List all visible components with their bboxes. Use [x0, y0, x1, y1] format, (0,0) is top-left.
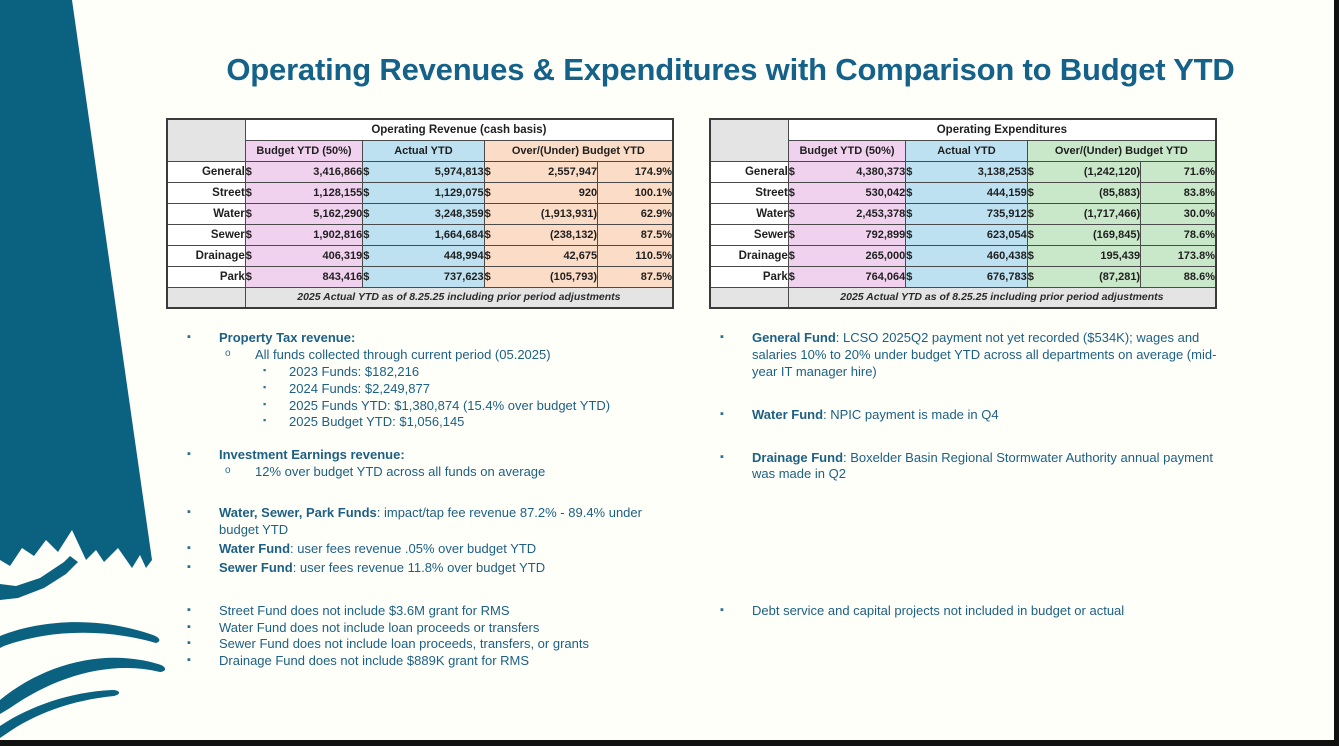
list-item-label: 2025 Funds YTD: $1,380,874 (15.4% over b…	[289, 398, 680, 415]
currency-symbol: $	[484, 245, 501, 266]
table-row: Drainage $ 265,000 $ 460,438 $ 195,439 1…	[710, 245, 1216, 266]
list-item-label: Water Fund: NPIC payment is made in Q4	[752, 407, 1218, 424]
currency-symbol: $	[1027, 203, 1044, 224]
column-header-budget-ytd: Budget YTD (50%)	[788, 140, 905, 161]
list-item-label: 12% over budget YTD across all funds on …	[255, 464, 680, 481]
currency-symbol: $	[484, 182, 501, 203]
operating-expenditures-table: Operating Expenditures Budget YTD (50%) …	[709, 118, 1217, 309]
table-row: Drainage $ 406,319 $ 448,994 $ 42,675 11…	[167, 245, 673, 266]
corner-cell	[167, 119, 245, 161]
bullet-square-icon: ▪	[720, 603, 724, 618]
currency-symbol: $	[906, 224, 923, 245]
row-label: Drainage	[167, 245, 245, 266]
group-title: Operating Expenditures	[788, 119, 1216, 140]
cell-over-under: (169,845)	[1044, 224, 1140, 245]
row-label: Street	[167, 182, 245, 203]
bullet-square-icon: ▪	[263, 398, 266, 410]
cell-over-under: 2,557,947	[501, 161, 597, 182]
currency-symbol: $	[1027, 224, 1044, 245]
list-item: ▪ 2024 Funds: $2,249,877	[185, 381, 680, 398]
list-item: o 12% over budget YTD across all funds o…	[185, 464, 680, 481]
cell-over-under: (1,242,120)	[1044, 161, 1140, 182]
bullet-square-icon: ▪	[187, 330, 191, 345]
list-item-label: Water Fund does not include loan proceed…	[219, 620, 680, 637]
column-header-over-under: Over/(Under) Budget YTD	[1027, 140, 1216, 161]
currency-symbol: $	[1027, 182, 1044, 203]
list-item: ▪ General Fund: LCSO 2025Q2 payment not …	[718, 330, 1218, 381]
list-item: ▪ Investment Earnings revenue:	[185, 447, 680, 464]
currency-symbol: $	[484, 224, 501, 245]
list-item-rest: : NPIC payment is made in Q4	[823, 407, 999, 422]
cell-over-under: 42,675	[501, 245, 597, 266]
table-footnote-row: 2025 Actual YTD as of 8.25.25 including …	[167, 287, 673, 308]
footnote-blank-cell	[167, 287, 245, 308]
spacer	[185, 481, 680, 505]
group-title: Operating Revenue (cash basis)	[245, 119, 673, 140]
cell-percent: 87.5%	[598, 224, 673, 245]
mountain-water-logo-icon	[0, 0, 180, 746]
list-item: ▪ Drainage Fund does not include $889K g…	[185, 653, 680, 670]
cell-actual-ytd: 1,129,075	[380, 182, 484, 203]
list-item: ▪ 2023 Funds: $182,216	[185, 364, 680, 381]
currency-symbol: $	[788, 266, 805, 287]
currency-symbol: $	[788, 245, 805, 266]
spacer	[718, 426, 1218, 450]
cell-actual-ytd: 444,159	[923, 182, 1027, 203]
cell-over-under: (85,883)	[1044, 182, 1140, 203]
table-group-header-row: Operating Revenue (cash basis)	[167, 119, 673, 140]
cell-percent: 174.9%	[598, 161, 673, 182]
bullet-square-icon: ▪	[187, 560, 191, 575]
row-label: Drainage	[710, 245, 788, 266]
bullet-square-icon: ▪	[263, 381, 266, 393]
cell-over-under: (1,913,931)	[501, 203, 597, 224]
column-header-over-under: Over/(Under) Budget YTD	[484, 140, 673, 161]
column-header-actual-ytd: Actual YTD	[363, 140, 484, 161]
cell-budget-ytd: 792,899	[805, 224, 905, 245]
bullet-square-icon: ▪	[263, 364, 266, 376]
bullet-square-icon: ▪	[187, 603, 191, 618]
list-item: o All funds collected through current pe…	[185, 347, 680, 364]
table-row: Water $ 2,453,378 $ 735,912 $ (1,717,466…	[710, 203, 1216, 224]
slide-canvas: Operating Revenues & Expenditures with C…	[0, 0, 1339, 746]
table-row: Sewer $ 792,899 $ 623,054 $ (169,845) 78…	[710, 224, 1216, 245]
page-title: Operating Revenues & Expenditures with C…	[168, 52, 1293, 88]
spacer	[185, 431, 680, 447]
spacer	[718, 383, 1218, 407]
cell-budget-ytd: 530,042	[805, 182, 905, 203]
table-row: General $ 4,380,373 $ 3,138,253 $ (1,242…	[710, 161, 1216, 182]
list-item: ▪ Water Fund: NPIC payment is made in Q4	[718, 407, 1218, 424]
bullet-square-icon: ▪	[187, 447, 191, 462]
currency-symbol: $	[1027, 245, 1044, 266]
list-item-emphasis: Drainage Fund	[752, 450, 843, 465]
list-item: ▪ Property Tax revenue:	[185, 330, 680, 347]
table-row: Street $ 530,042 $ 444,159 $ (85,883) 83…	[710, 182, 1216, 203]
list-item-label: Investment Earnings revenue:	[219, 447, 680, 464]
expenditure-notes-list: ▪ General Fund: LCSO 2025Q2 payment not …	[718, 330, 1218, 622]
bullet-square-icon: ▪	[187, 541, 191, 556]
currency-symbol: $	[363, 161, 380, 182]
footnote-blank-cell	[710, 287, 788, 308]
currency-symbol: $	[906, 161, 923, 182]
row-label: Park	[167, 266, 245, 287]
currency-symbol: $	[245, 266, 262, 287]
cell-budget-ytd: 2,453,378	[805, 203, 905, 224]
cell-percent: 30.0%	[1141, 203, 1216, 224]
list-item-rest: : user fees revenue 11.8% over budget YT…	[293, 560, 545, 575]
bullet-square-icon: ▪	[187, 505, 191, 520]
bullet-square-icon: ▪	[187, 636, 191, 651]
bullet-square-icon: ▪	[263, 414, 266, 426]
cell-percent: 71.6%	[1141, 161, 1216, 182]
cell-budget-ytd: 3,416,866	[262, 161, 362, 182]
list-item-label: 2024 Funds: $2,249,877	[289, 381, 680, 398]
list-item: ▪ 2025 Budget YTD: $1,056,145	[185, 414, 680, 431]
table-footnote: 2025 Actual YTD as of 8.25.25 including …	[245, 287, 673, 308]
list-item: ▪ Debt service and capital projects not …	[718, 603, 1218, 620]
row-label: Water	[710, 203, 788, 224]
list-item: ▪ Street Fund does not include $3.6M gra…	[185, 603, 680, 620]
list-item: ▪ Water Fund: user fees revenue .05% ove…	[185, 541, 680, 558]
bullet-square-icon: ▪	[720, 407, 724, 422]
cell-over-under: (87,281)	[1044, 266, 1140, 287]
cell-percent: 88.6%	[1141, 266, 1216, 287]
cell-actual-ytd: 623,054	[923, 224, 1027, 245]
column-header-actual-ytd: Actual YTD	[906, 140, 1027, 161]
spacer	[185, 579, 680, 603]
row-label: Park	[710, 266, 788, 287]
currency-symbol: $	[1027, 266, 1044, 287]
cell-budget-ytd: 406,319	[262, 245, 362, 266]
cell-over-under: (105,793)	[501, 266, 597, 287]
currency-symbol: $	[906, 203, 923, 224]
operating-revenue-table: Operating Revenue (cash basis) Budget YT…	[166, 118, 674, 309]
cell-actual-ytd: 5,974,813	[380, 161, 484, 182]
cell-budget-ytd: 4,380,373	[805, 161, 905, 182]
list-item: ▪ Sewer Fund: user fees revenue 11.8% ov…	[185, 560, 680, 577]
cell-over-under: (1,717,466)	[1044, 203, 1140, 224]
table-footnote-row: 2025 Actual YTD as of 8.25.25 including …	[710, 287, 1216, 308]
table-row: General $ 3,416,866 $ 5,974,813 $ 2,557,…	[167, 161, 673, 182]
cell-over-under: 920	[501, 182, 597, 203]
list-item-label: Water Fund: user fees revenue .05% over …	[219, 541, 680, 558]
currency-symbol: $	[245, 161, 262, 182]
list-item-label: 2025 Budget YTD: $1,056,145	[289, 414, 680, 431]
cell-budget-ytd: 843,416	[262, 266, 362, 287]
cell-actual-ytd: 735,912	[923, 203, 1027, 224]
bullet-square-icon: ▪	[187, 620, 191, 635]
list-item: ▪ Water Fund does not include loan proce…	[185, 620, 680, 637]
row-label: General	[167, 161, 245, 182]
cell-budget-ytd: 764,064	[805, 266, 905, 287]
cell-actual-ytd: 448,994	[380, 245, 484, 266]
bullet-square-icon: ▪	[187, 653, 191, 668]
spacer	[718, 485, 1218, 603]
cell-percent: 87.5%	[598, 266, 673, 287]
list-item: ▪ Water, Sewer, Park Funds: impact/tap f…	[185, 505, 680, 539]
currency-symbol: $	[484, 266, 501, 287]
cell-budget-ytd: 265,000	[805, 245, 905, 266]
cell-percent: 173.8%	[1141, 245, 1216, 266]
list-item-emphasis: General Fund	[752, 330, 836, 345]
currency-symbol: $	[245, 203, 262, 224]
list-item-label: General Fund: LCSO 2025Q2 payment not ye…	[752, 330, 1218, 381]
cell-actual-ytd: 1,664,684	[380, 224, 484, 245]
list-item-emphasis: Water Fund	[752, 407, 823, 422]
currency-symbol: $	[788, 182, 805, 203]
list-item-label: Debt service and capital projects not in…	[752, 603, 1218, 620]
list-item-label: Sewer Fund: user fees revenue 11.8% over…	[219, 560, 680, 577]
list-item: ▪ Sewer Fund does not include loan proce…	[185, 636, 680, 653]
currency-symbol: $	[363, 203, 380, 224]
list-item-emphasis: Water, Sewer, Park Funds	[219, 505, 377, 520]
corner-cell	[710, 119, 788, 161]
currency-symbol: $	[363, 182, 380, 203]
row-label: Water	[167, 203, 245, 224]
list-item-emphasis: Sewer Fund	[219, 560, 293, 575]
cell-budget-ytd: 1,902,816	[262, 224, 362, 245]
cell-over-under: 195,439	[1044, 245, 1140, 266]
list-item-label: All funds collected through current peri…	[255, 347, 680, 364]
currency-symbol: $	[245, 182, 262, 203]
row-label: Sewer	[710, 224, 788, 245]
table-row: Park $ 764,064 $ 676,783 $ (87,281) 88.6…	[710, 266, 1216, 287]
currency-symbol: $	[788, 203, 805, 224]
bullet-circle-icon: o	[225, 464, 231, 478]
list-item-label: Sewer Fund does not include loan proceed…	[219, 636, 680, 653]
currency-symbol: $	[906, 245, 923, 266]
cell-budget-ytd: 5,162,290	[262, 203, 362, 224]
cell-over-under: (238,132)	[501, 224, 597, 245]
cell-budget-ytd: 1,128,155	[262, 182, 362, 203]
cell-actual-ytd: 460,438	[923, 245, 1027, 266]
revenue-notes-list: ▪ Property Tax revenue: o All funds coll…	[185, 330, 680, 670]
currency-symbol: $	[788, 224, 805, 245]
row-label: Street	[710, 182, 788, 203]
table-row: Street $ 1,128,155 $ 1,129,075 $ 920 100…	[167, 182, 673, 203]
table-row: Sewer $ 1,902,816 $ 1,664,684 $ (238,132…	[167, 224, 673, 245]
cell-percent: 83.8%	[1141, 182, 1216, 203]
row-label: General	[710, 161, 788, 182]
list-item-rest: : user fees revenue .05% over budget YTD	[290, 541, 536, 556]
currency-symbol: $	[484, 203, 501, 224]
currency-symbol: $	[1027, 161, 1044, 182]
list-item-emphasis: Water Fund	[219, 541, 290, 556]
table-row: Water $ 5,162,290 $ 3,248,359 $ (1,913,9…	[167, 203, 673, 224]
currency-symbol: $	[906, 182, 923, 203]
currency-symbol: $	[245, 224, 262, 245]
cell-percent: 62.9%	[598, 203, 673, 224]
table-footnote: 2025 Actual YTD as of 8.25.25 including …	[788, 287, 1216, 308]
cell-percent: 100.1%	[598, 182, 673, 203]
bullet-square-icon: ▪	[720, 450, 724, 465]
cell-actual-ytd: 737,623	[380, 266, 484, 287]
cell-actual-ytd: 676,783	[923, 266, 1027, 287]
cell-actual-ytd: 3,248,359	[380, 203, 484, 224]
list-item-label: Water, Sewer, Park Funds: impact/tap fee…	[219, 505, 680, 539]
list-item: ▪ Drainage Fund: Boxelder Basin Regional…	[718, 450, 1218, 484]
table-group-header-row: Operating Expenditures	[710, 119, 1216, 140]
currency-symbol: $	[788, 161, 805, 182]
currency-symbol: $	[363, 266, 380, 287]
cell-actual-ytd: 3,138,253	[923, 161, 1027, 182]
column-header-budget-ytd: Budget YTD (50%)	[245, 140, 362, 161]
table-row: Park $ 843,416 $ 737,623 $ (105,793) 87.…	[167, 266, 673, 287]
list-item-label: Drainage Fund does not include $889K gra…	[219, 653, 680, 670]
list-item-label: 2023 Funds: $182,216	[289, 364, 680, 381]
currency-symbol: $	[363, 224, 380, 245]
currency-symbol: $	[245, 245, 262, 266]
currency-symbol: $	[363, 245, 380, 266]
bullet-square-icon: ▪	[720, 330, 724, 345]
currency-symbol: $	[906, 266, 923, 287]
currency-symbol: $	[484, 161, 501, 182]
cell-percent: 110.5%	[598, 245, 673, 266]
list-item-label: Property Tax revenue:	[219, 330, 680, 347]
list-item: ▪ 2025 Funds YTD: $1,380,874 (15.4% over…	[185, 398, 680, 415]
list-item-label: Drainage Fund: Boxelder Basin Regional S…	[752, 450, 1218, 484]
list-item-label: Street Fund does not include $3.6M grant…	[219, 603, 680, 620]
cell-percent: 78.6%	[1141, 224, 1216, 245]
bullet-circle-icon: o	[225, 347, 231, 361]
row-label: Sewer	[167, 224, 245, 245]
